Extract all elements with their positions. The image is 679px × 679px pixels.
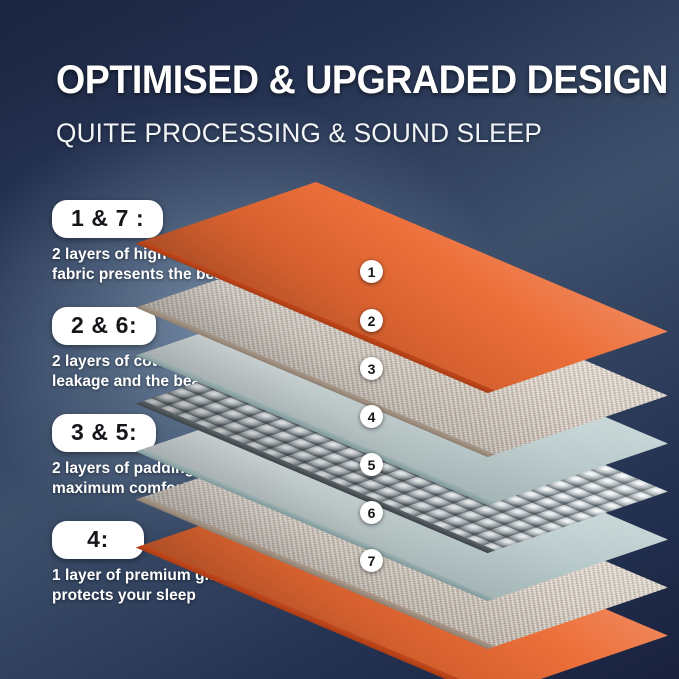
- page-title: OPTIMISED & UPGRADED DESIGN: [56, 58, 620, 103]
- callout-label-2-6: 2 & 6:: [52, 307, 156, 345]
- layer-badge-1: 1: [360, 260, 383, 283]
- callout-label-3-5: 3 & 5:: [52, 414, 156, 452]
- callout-label-4: 4:: [52, 521, 144, 559]
- layer-badge-2: 2: [360, 309, 383, 332]
- infographic-canvas: OPTIMISED & UPGRADED DESIGN QUITE PROCES…: [0, 0, 679, 679]
- layer-badge-5: 5: [360, 453, 383, 476]
- callout-label-1-7: 1 & 7 :: [52, 200, 163, 238]
- layer-stack-diagram: 1 2 3 4 5 6 7: [316, 176, 679, 646]
- layer-badge-3: 3: [360, 357, 383, 380]
- layer-badge-6: 6: [360, 501, 383, 524]
- page-subtitle: QUITE PROCESSING & SOUND SLEEP: [56, 118, 542, 149]
- layer-badge-7: 7: [360, 549, 383, 572]
- layer-badge-4: 4: [360, 405, 383, 428]
